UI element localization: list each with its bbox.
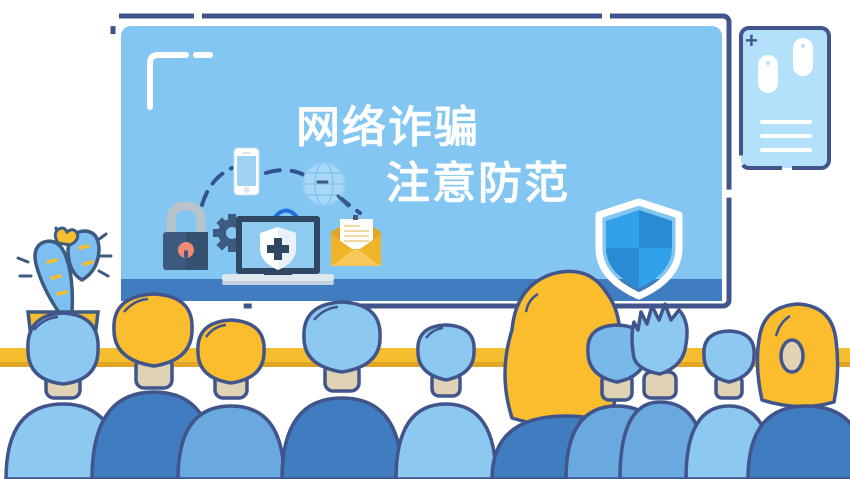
poster-pill-1 xyxy=(758,55,778,93)
poster-line-1 xyxy=(760,120,812,124)
hair xyxy=(418,325,474,380)
hair xyxy=(28,313,98,384)
smartphone-icon xyxy=(234,148,259,195)
poster-canvas: + 网络诈骗 注意防范 xyxy=(0,0,850,479)
person-10 xyxy=(748,304,850,479)
hair xyxy=(704,331,754,382)
laptop-icon xyxy=(222,216,334,285)
hair xyxy=(198,320,264,383)
poster-line-3 xyxy=(760,148,812,152)
hair xyxy=(632,304,687,374)
hair xyxy=(114,294,192,366)
plus-mark: + xyxy=(745,28,758,53)
wall-poster-panel: + xyxy=(741,28,829,168)
screen-title-line-2: 注意防范 xyxy=(386,158,570,209)
cactus-flower xyxy=(55,228,77,245)
screen-title-line-1: 网络诈骗 xyxy=(296,102,480,153)
neck xyxy=(644,372,676,398)
ear xyxy=(781,340,803,372)
poster-line-2 xyxy=(760,134,812,138)
hair xyxy=(304,302,380,372)
poster-pill-2 xyxy=(793,38,813,76)
